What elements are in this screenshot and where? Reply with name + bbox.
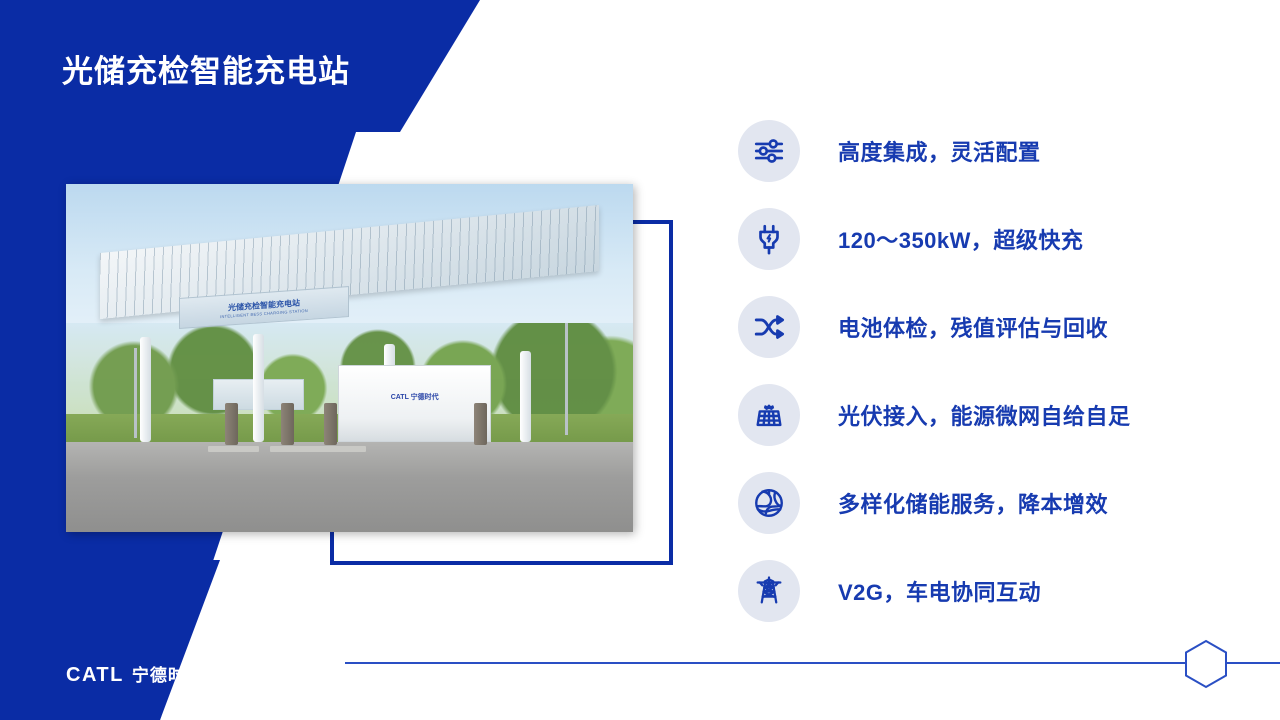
- photo-charging-post: [225, 403, 238, 445]
- photo-canopy-column: [253, 334, 264, 442]
- photo-bess-container: CATL 宁德时代: [338, 365, 491, 442]
- feature-label: 120～350kW，超级快充: [838, 223, 1083, 255]
- photo-curb: [315, 446, 366, 452]
- feature-item-photovoltaic[interactable]: 光伏接入，能源微网自给自足: [738, 384, 1238, 446]
- plug-icon: [738, 208, 800, 270]
- globe-network-icon: [738, 472, 800, 534]
- feature-list: 高度集成，灵活配置 120～350kW，超级快充: [738, 120, 1238, 648]
- photo-canopy-column: [520, 351, 531, 441]
- page-title: 光储充检智能充电站: [62, 46, 350, 91]
- feature-label: 电池体检，残值评估与回收: [838, 311, 1108, 343]
- shuffle-icon: [738, 296, 800, 358]
- photo-canopy-column: [140, 337, 151, 441]
- feature-label: V2G，车电协同互动: [838, 575, 1041, 607]
- brand-logo-chinese: 宁德时代: [132, 661, 204, 686]
- feature-label: 多样化储能服务，降本增效: [838, 487, 1108, 519]
- solar-panel-icon: [738, 384, 800, 446]
- photo-charging-post: [281, 403, 294, 445]
- feature-item-v2g[interactable]: V2G，车电协同互动: [738, 560, 1238, 622]
- feature-label: 高度集成，灵活配置: [838, 135, 1041, 167]
- blue-footer-band: [0, 560, 420, 720]
- feature-item-battery-inspection[interactable]: 电池体检，残值评估与回收: [738, 296, 1238, 358]
- feature-item-integration[interactable]: 高度集成，灵活配置: [738, 120, 1238, 182]
- photo-road: [66, 442, 633, 532]
- feature-label: 光伏接入，能源微网自给自足: [838, 399, 1131, 431]
- photo-curb: [208, 446, 259, 452]
- brand-logo-latin: CATL: [66, 664, 124, 687]
- photo-lamp-post: [134, 348, 137, 438]
- photo-container-logo: CATL 宁德时代: [391, 392, 439, 402]
- feature-item-storage-services[interactable]: 多样化储能服务，降本增效: [738, 472, 1238, 534]
- slide-root: 光储充检智能充电站 光储充检智能充电站 INTELLIGENT BESS CHA…: [0, 0, 1280, 720]
- photo-charging-post: [324, 403, 337, 445]
- hexagon-decoration: [1180, 638, 1232, 690]
- power-tower-icon: [738, 560, 800, 622]
- photo-lamp-post: [565, 323, 568, 434]
- brand-logo: CATL 宁德时代: [66, 661, 204, 687]
- sliders-icon: [738, 120, 800, 182]
- feature-item-fast-charging[interactable]: 120～350kW，超级快充: [738, 208, 1238, 270]
- station-photo: 光储充检智能充电站 INTELLIGENT BESS CHARGING STAT…: [66, 184, 633, 532]
- photo-curb: [270, 446, 321, 452]
- footer-divider: [345, 662, 1280, 664]
- photo-charging-post: [474, 403, 487, 445]
